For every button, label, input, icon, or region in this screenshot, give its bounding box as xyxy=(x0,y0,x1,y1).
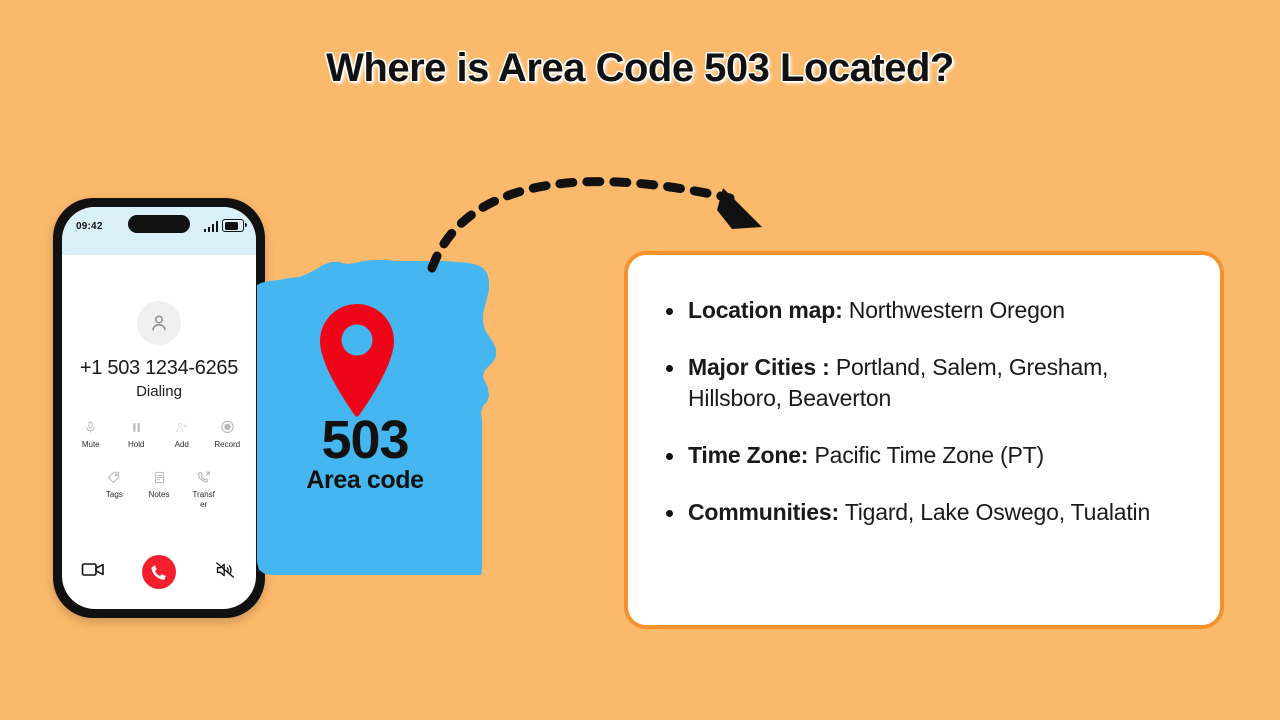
camera-notch-icon xyxy=(128,215,190,233)
record-icon xyxy=(205,419,251,437)
phone-mockup: 09:42 +1 503 1234-6265 Dialing xyxy=(53,198,265,618)
info-label: Communities: xyxy=(688,499,839,525)
call-action-record[interactable]: Record xyxy=(205,419,251,450)
battery-icon xyxy=(222,219,244,232)
call-action-label: Tags xyxy=(101,490,127,500)
tag-icon xyxy=(92,469,137,487)
location-pin-icon xyxy=(311,302,403,422)
call-action-label: Mute xyxy=(78,440,104,450)
call-status-text: Dialing xyxy=(62,383,256,400)
page-title: Where is Area Code 503 Located? xyxy=(0,46,1280,91)
pause-icon xyxy=(114,419,160,437)
end-call-icon xyxy=(150,563,168,581)
dialed-number: +1 503 1234-6265 xyxy=(62,357,256,380)
avatar xyxy=(137,301,181,345)
info-label: Major Cities : xyxy=(688,354,830,380)
call-actions-row-1: Mute Hold Add xyxy=(68,419,250,450)
info-value: Tigard, Lake Oswego, Tualatin xyxy=(845,499,1150,525)
call-action-hold[interactable]: Hold xyxy=(114,419,160,450)
info-label: Location map: xyxy=(688,297,843,323)
status-bar-icons xyxy=(204,220,245,232)
info-value: Pacific Time Zone (PT) xyxy=(814,442,1044,468)
speaker-mute-icon[interactable] xyxy=(213,560,237,585)
call-actions-row-2: Tags Notes Transfer xyxy=(92,469,226,510)
list-item: Communities: Tigard, Lake Oswego, Tualat… xyxy=(658,497,1192,528)
list-item: Major Cities : Portland, Salem, Gresham,… xyxy=(658,352,1192,414)
call-action-tags[interactable]: Tags xyxy=(92,469,137,510)
call-action-label: Add xyxy=(169,440,195,450)
end-call-button[interactable] xyxy=(142,555,176,589)
person-avatar-icon xyxy=(148,312,170,334)
call-action-label: Record xyxy=(214,440,240,450)
list-item: Time Zone: Pacific Time Zone (PT) xyxy=(658,440,1192,471)
note-icon xyxy=(137,469,182,487)
call-action-mute[interactable]: Mute xyxy=(68,419,114,450)
call-control-bar xyxy=(62,555,256,589)
call-action-transfer[interactable]: Transfer xyxy=(181,469,226,510)
transfer-call-icon xyxy=(181,469,226,487)
call-action-notes[interactable]: Notes xyxy=(137,469,182,510)
video-camera-icon[interactable] xyxy=(81,561,105,583)
info-list: Location map: Northwestern Oregon Major … xyxy=(658,295,1192,528)
phone-screen: 09:42 +1 503 1234-6265 Dialing xyxy=(62,207,256,609)
area-code-caption: Area code xyxy=(255,466,475,495)
call-action-add[interactable]: Add xyxy=(159,419,205,450)
list-item: Location map: Northwestern Oregon xyxy=(658,295,1192,326)
signal-bars-icon xyxy=(204,221,219,232)
call-action-label: Transfer xyxy=(191,490,217,510)
map-graphic: 503 Area code xyxy=(255,250,525,590)
status-bar-time: 09:42 xyxy=(76,221,103,232)
area-code-number: 503 xyxy=(255,413,475,467)
info-value: Northwestern Oregon xyxy=(849,297,1065,323)
add-call-icon xyxy=(159,419,205,437)
phone-status-bar: 09:42 xyxy=(62,207,256,255)
microphone-icon xyxy=(68,419,114,437)
call-action-label: Hold xyxy=(123,440,149,450)
info-label: Time Zone: xyxy=(688,442,808,468)
call-action-label: Notes xyxy=(146,490,172,500)
info-card: Location map: Northwestern Oregon Major … xyxy=(624,251,1224,629)
